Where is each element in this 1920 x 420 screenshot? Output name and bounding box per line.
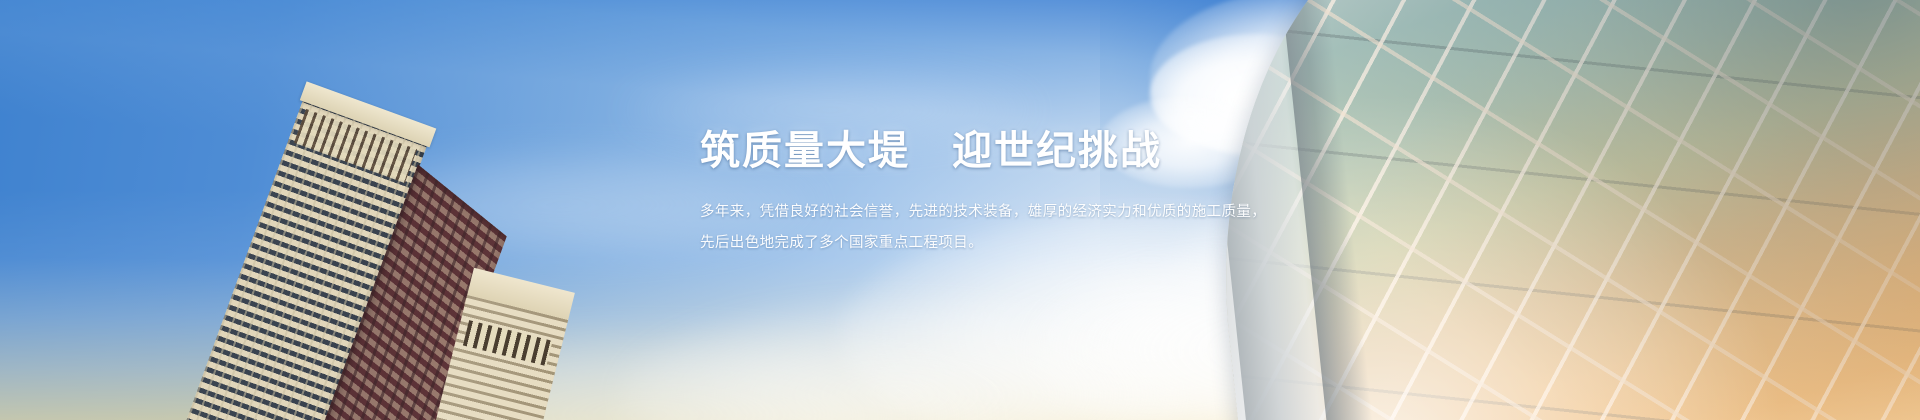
banner-subtitle-line-1: 多年来，凭借良好的社会信誉，先进的技术装备，雄厚的经济实力和优质的施工质量， [700, 197, 1340, 228]
hero-banner: 筑质量大堤 迎世纪挑战 多年来，凭借良好的社会信誉，先进的技术装备，雄厚的经济实… [0, 0, 1920, 420]
banner-copy-block: 筑质量大堤 迎世纪挑战 多年来，凭借良好的社会信誉，先进的技术装备，雄厚的经济实… [700, 128, 1340, 260]
banner-subtitle: 多年来，凭借良好的社会信誉，先进的技术装备，雄厚的经济实力和优质的施工质量， 先… [700, 197, 1340, 259]
banner-headline: 筑质量大堤 迎世纪挑战 [700, 128, 1340, 175]
banner-subtitle-line-2: 先后出色地完成了多个国家重点工程项目。 [700, 228, 1340, 259]
